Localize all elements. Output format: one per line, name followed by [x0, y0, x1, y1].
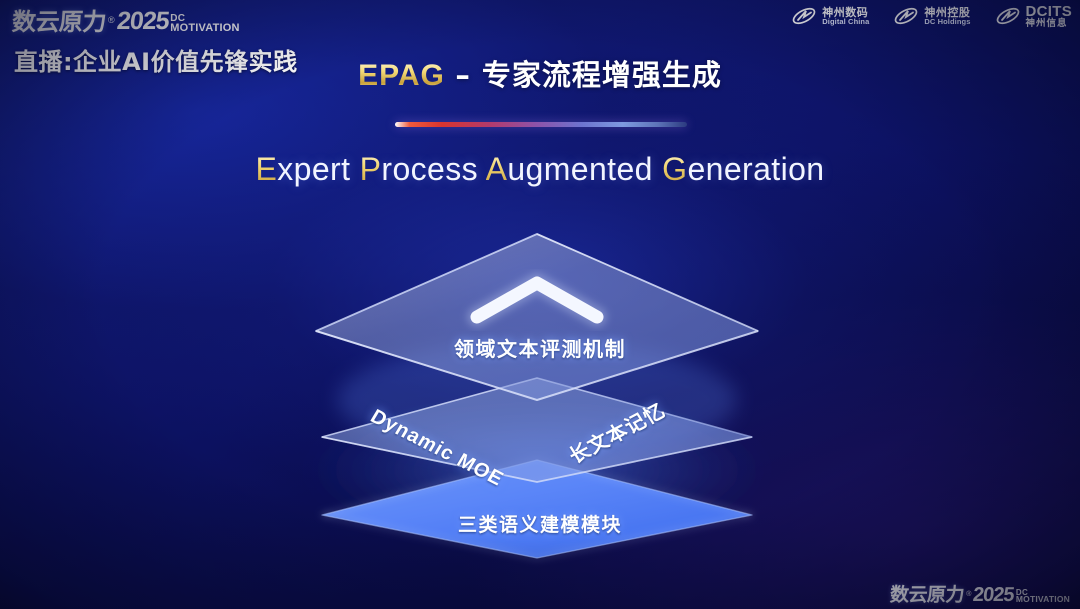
footer-brand-watermark: 数云原力 ® 2025 DC MOTIVATION	[890, 585, 1070, 605]
footer-brand-name-cn: 数云原力	[890, 586, 965, 605]
layer-stack-svg	[0, 0, 1080, 609]
slide-root: 数云原力 ® 2025 DC MOTIVATION 直播:企业AI价值先锋实践 …	[0, 0, 1080, 609]
footer-brand-year: 2025	[972, 585, 1015, 605]
footer-brand-motivation-text: MOTIVATION	[1016, 596, 1070, 604]
footer-brand-dc-motivation: DC MOTIVATION	[1016, 589, 1070, 605]
isometric-layer-diagram: 领域文本评测机制 Dynamic MOE 长文本记忆 三类语义建模模块	[0, 0, 1080, 609]
footer-brand-registered-mark: ®	[966, 591, 971, 598]
